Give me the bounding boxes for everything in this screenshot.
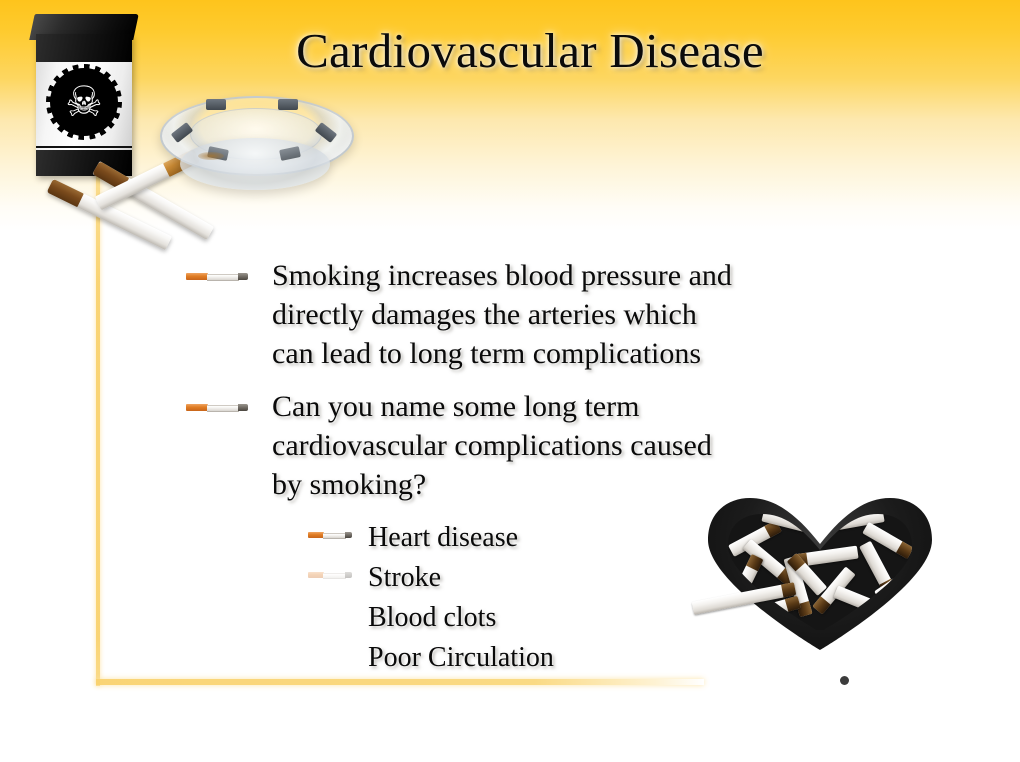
ashtray-shadow-dot <box>840 676 849 685</box>
cigarette-ash-tip <box>238 404 248 411</box>
cigarette-body <box>207 405 239 412</box>
cigarette-filter <box>308 532 324 538</box>
ashtray-notch <box>206 99 226 110</box>
cigarette-pack-skull-image: ☠ <box>28 14 148 199</box>
cigarette-filter <box>186 404 208 411</box>
cigarette-body <box>207 274 239 281</box>
cigarette-ash-tip <box>345 572 352 578</box>
bullet-line: by smoking? <box>272 465 712 504</box>
skull-crossbones-icon: ☠ <box>50 68 118 136</box>
bullet-line: Smoking increases blood pressure and <box>272 256 732 295</box>
cigarette-filter <box>186 273 208 280</box>
sub-bullet-label: Blood clots <box>368 598 496 638</box>
cigarette-bullet-icon <box>308 572 352 579</box>
pack-band-line <box>36 146 132 148</box>
list-item: Can you name some long term cardiovascul… <box>186 387 886 504</box>
cigarette-bullet-icon <box>186 272 248 281</box>
bullet-text: Can you name some long term cardiovascul… <box>272 387 712 504</box>
cigarette-body <box>323 573 346 579</box>
sub-bullet-label: Poor Circulation <box>368 638 554 678</box>
bullet-line: directly damages the arteries which <box>272 295 732 334</box>
sub-bullet-label: Heart disease <box>368 518 518 558</box>
ashtray-notch <box>278 99 298 110</box>
sub-bullet-label: Stroke <box>368 558 441 598</box>
pack-box: ☠ <box>36 34 132 176</box>
heart-ashtray-butts-image <box>700 492 940 652</box>
skull-glyph: ☠ <box>65 81 103 123</box>
ashtray-base <box>180 138 330 190</box>
cigarette-body <box>323 533 346 539</box>
list-item: Smoking increases blood pressure and dir… <box>186 256 886 373</box>
cigarette-bullet-icon <box>186 403 248 412</box>
frame-horizontal-line <box>96 679 704 685</box>
butt-burn <box>781 582 796 597</box>
page-title: Cardiovascular Disease <box>150 22 910 80</box>
ashtray-ash-stain <box>198 152 224 160</box>
cigarette-ash-tip <box>345 532 352 538</box>
cigarette-bullet-icon <box>308 532 352 539</box>
cigarette-filter <box>308 572 324 578</box>
bullet-text: Smoking increases blood pressure and dir… <box>272 256 732 373</box>
heart-ashtray-bowl <box>722 510 918 630</box>
cigarette-ash-tip <box>238 273 248 280</box>
bullet-line: can lead to long term complications <box>272 334 732 373</box>
bullet-line: Can you name some long term <box>272 387 712 426</box>
butt-burn <box>812 596 830 614</box>
slide-canvas: ☠ Cardiovascular Disease <box>0 0 1020 762</box>
glass-ashtray-image <box>160 96 350 196</box>
bullet-line: cardiovascular complications caused <box>272 426 712 465</box>
pack-band-top <box>36 34 132 62</box>
